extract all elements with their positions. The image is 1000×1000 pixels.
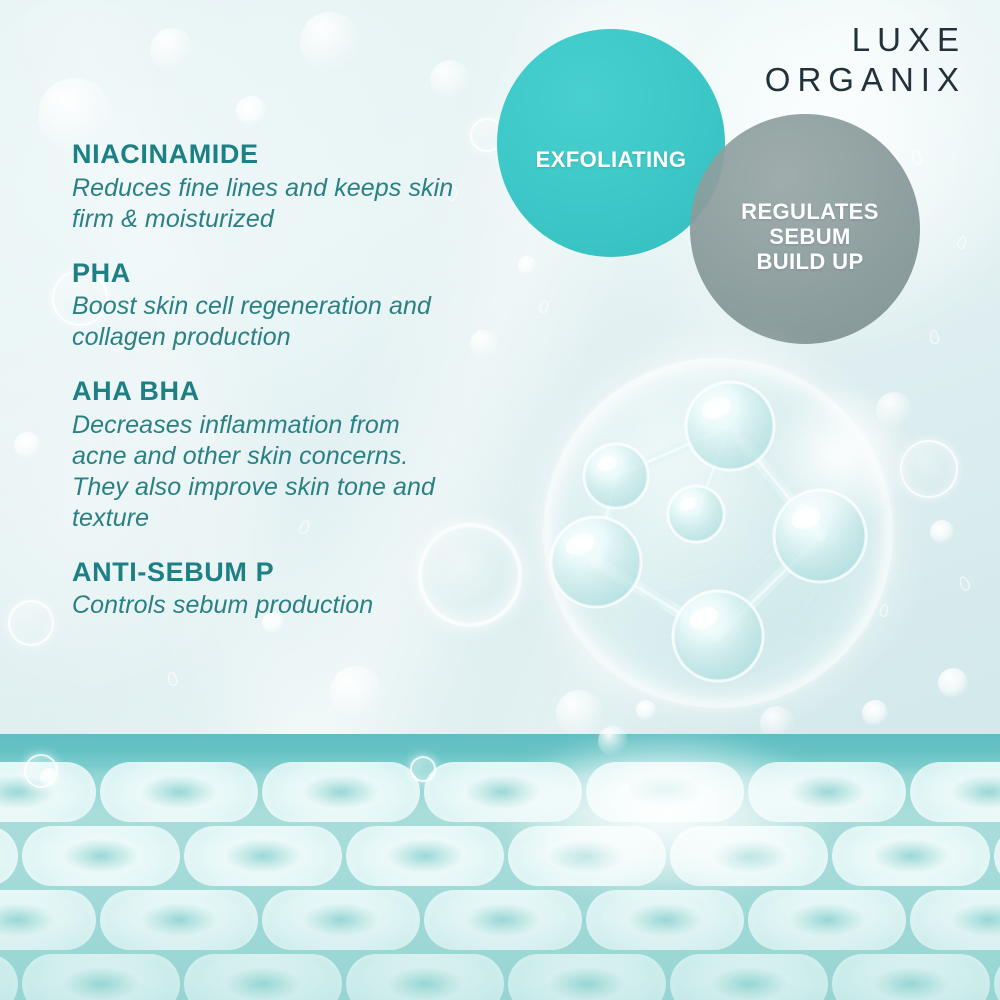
- skin-cell: [0, 954, 18, 1000]
- infographic-canvas: LUXE ORGANIX EXFOLIATING REGULATES SEBUM…: [0, 0, 1000, 1000]
- skin-cell: [346, 826, 504, 886]
- benefit-label-regulates-sebum: REGULATES SEBUM BUILD UP: [695, 199, 925, 274]
- skin-cell: [748, 762, 906, 822]
- skin-cell: [184, 954, 342, 1000]
- brand-line-1: LUXE: [765, 20, 966, 60]
- skin-cell: [0, 762, 96, 822]
- skin-cell: [424, 890, 582, 950]
- skin-cell: [22, 954, 180, 1000]
- ingredient-description: Boost skin cell regeneration and collage…: [72, 291, 492, 353]
- skin-cell: [832, 826, 990, 886]
- skin-cell: [994, 826, 1000, 886]
- skin-cell: [586, 762, 744, 822]
- skin-surface-strip: [0, 734, 1000, 764]
- benefit-label-exfoliating: EXFOLIATING: [497, 147, 725, 173]
- skin-cell: [100, 762, 258, 822]
- skin-cell: [670, 954, 828, 1000]
- skin-cell: [508, 954, 666, 1000]
- ingredient-description: Decreases inflammation from acne and oth…: [72, 410, 452, 534]
- ingredient-title: NIACINAMIDE: [72, 140, 492, 169]
- skin-cell: [262, 762, 420, 822]
- skin-cell-layer: [0, 734, 1000, 1000]
- skin-cell: [670, 826, 828, 886]
- brand-logo: LUXE ORGANIX: [765, 20, 966, 100]
- ingredient-title: PHA: [72, 259, 492, 288]
- brand-line-2: ORGANIX: [765, 60, 966, 100]
- molecule-icon: [520, 330, 920, 730]
- skin-cell: [832, 954, 990, 1000]
- skin-cell: [424, 762, 582, 822]
- small-bubble-graphic: [418, 523, 522, 627]
- ingredient-item: AHA BHA Decreases inflammation from acne…: [72, 377, 492, 534]
- benefit-label-line-2: SEBUM: [695, 224, 925, 249]
- benefit-label-line-3: BUILD UP: [695, 249, 925, 274]
- skin-cell: [910, 762, 1000, 822]
- skin-cell: [748, 890, 906, 950]
- ingredient-item: PHA Boost skin cell regeneration and col…: [72, 259, 492, 354]
- skin-cell: [100, 890, 258, 950]
- molecule-bubble-graphic: [520, 330, 920, 730]
- skin-cell: [22, 826, 180, 886]
- skin-cell: [262, 890, 420, 950]
- skin-cell: [508, 826, 666, 886]
- ingredient-item: NIACINAMIDE Reduces fine lines and keeps…: [72, 140, 492, 235]
- bubble-highlight: [770, 390, 920, 520]
- skin-cell: [346, 954, 504, 1000]
- ingredient-description: Reduces fine lines and keeps skin firm &…: [72, 173, 492, 235]
- skin-cell: [184, 826, 342, 886]
- ingredient-title: AHA BHA: [72, 377, 492, 406]
- skin-cell: [994, 954, 1000, 1000]
- skin-cell: [0, 890, 96, 950]
- skin-cell: [586, 890, 744, 950]
- skin-cell: [910, 890, 1000, 950]
- skin-cell: [0, 826, 18, 886]
- benefit-label-line-1: REGULATES: [695, 199, 925, 224]
